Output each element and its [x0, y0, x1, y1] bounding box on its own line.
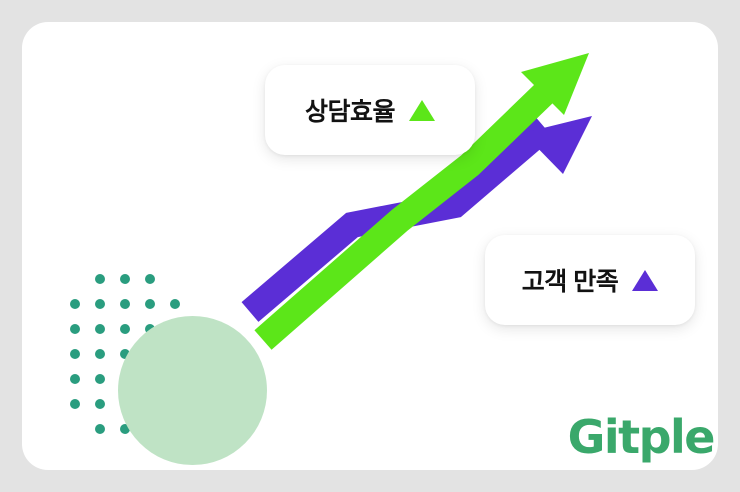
soft-green-circle	[118, 316, 267, 465]
up-triangle-icon	[409, 100, 435, 121]
label-text-consultation-efficiency: 상담효율	[305, 92, 395, 128]
label-text-customer-satisfaction: 고객 만족	[522, 262, 618, 298]
label-chip-consultation-efficiency[interactable]: 상담효율	[265, 65, 475, 155]
up-triangle-icon	[632, 270, 658, 291]
brand-logo: Gitple	[568, 410, 714, 464]
label-chip-customer-satisfaction[interactable]: 고객 만족	[485, 235, 695, 325]
screenshot-canvas: 상담효율 고객 만족 Gitple	[0, 0, 740, 492]
